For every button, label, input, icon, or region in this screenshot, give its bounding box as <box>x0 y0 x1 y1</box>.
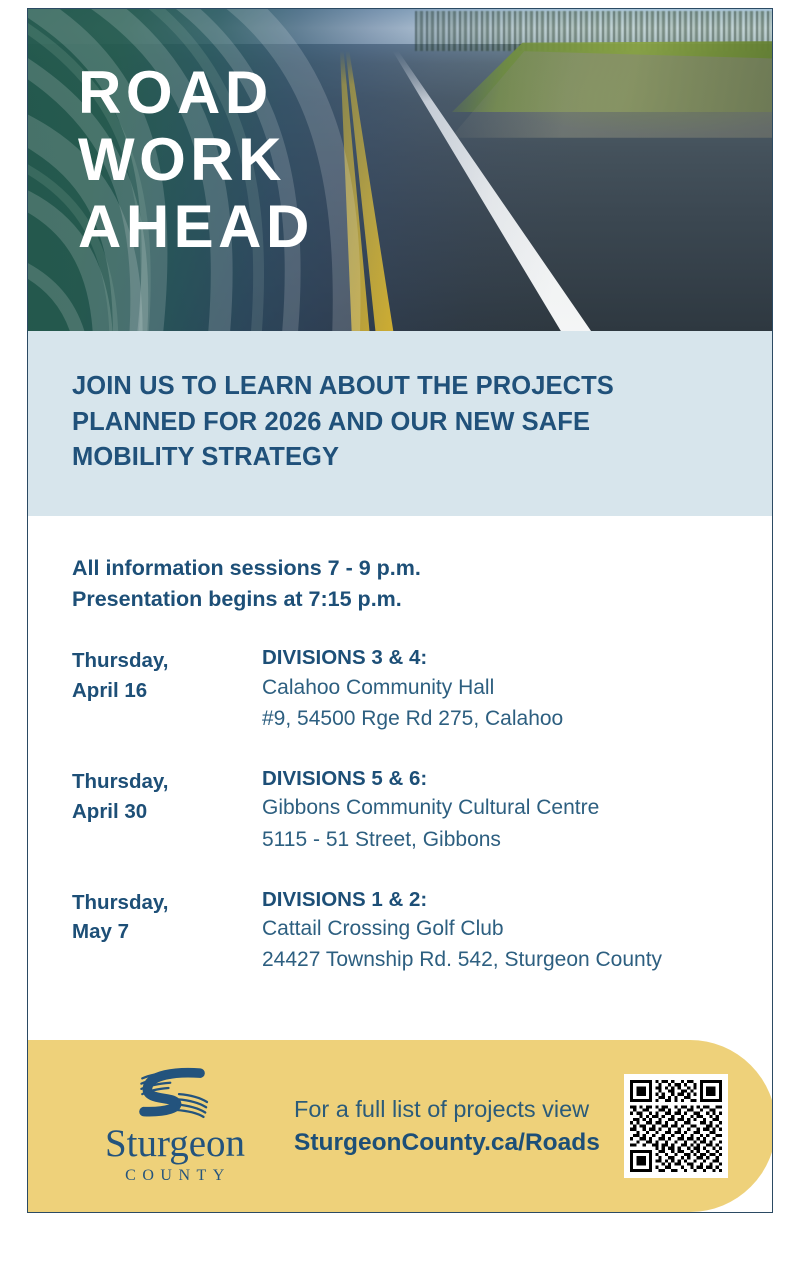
session-location: DIVISIONS 1 & 2: Cattail Crossing Golf C… <box>262 886 728 976</box>
session-date-value: April 30 <box>72 797 262 827</box>
session-address: #9, 54500 Rge Rd 275, Calahoo <box>262 703 728 734</box>
sturgeon-county-logo: Sturgeon COUNTY <box>90 1067 260 1184</box>
session-date: Thursday, April 16 <box>72 644 262 734</box>
session-date: Thursday, May 7 <box>72 886 262 976</box>
page-title: ROAD WORK AHEAD <box>78 59 314 261</box>
session-day: Thursday, <box>72 646 262 676</box>
session-address: 24427 Township Rd. 542, Sturgeon County <box>262 944 728 975</box>
session-date-value: April 16 <box>72 676 262 706</box>
qr-code[interactable] <box>624 1074 728 1178</box>
session-day: Thursday, <box>72 888 262 918</box>
session-day: Thursday, <box>72 767 262 797</box>
session-address: 5115 - 51 Street, Gibbons <box>262 824 728 855</box>
session-venue: Cattail Crossing Golf Club <box>262 913 728 944</box>
hero-title-line-1: ROAD <box>78 59 314 126</box>
session-date-value: May 7 <box>72 917 262 947</box>
sessions-intro: All information sessions 7 - 9 p.m. Pres… <box>72 553 728 615</box>
session-location: DIVISIONS 5 & 6: Gibbons Community Cultu… <box>262 765 728 855</box>
session-item: Thursday, April 30 DIVISIONS 5 & 6: Gibb… <box>72 765 728 855</box>
cta-url[interactable]: SturgeonCounty.ca/Roads <box>294 1127 624 1159</box>
qr-code-icon <box>630 1080 722 1172</box>
logo-wordmark: Sturgeon <box>90 1125 260 1163</box>
sessions-list: Thursday, April 16 DIVISIONS 3 & 4: Cala… <box>72 644 728 975</box>
intro-line-1: All information sessions 7 - 9 p.m. <box>72 553 728 584</box>
subhead-text: JOIN US TO LEARN ABOUT THE PROJECTS PLAN… <box>72 369 728 476</box>
session-divisions: DIVISIONS 1 & 2: <box>262 886 728 914</box>
session-item: Thursday, May 7 DIVISIONS 1 & 2: Cattail… <box>72 886 728 976</box>
session-item: Thursday, April 16 DIVISIONS 3 & 4: Cala… <box>72 644 728 734</box>
cta-text: For a full list of projects view Sturgeo… <box>294 1094 624 1159</box>
cta-line-1: For a full list of projects view <box>294 1094 624 1124</box>
subhead-line-2: PLANNED FOR 2026 AND OUR NEW SAFE <box>72 405 728 441</box>
subhead-band: JOIN US TO LEARN ABOUT THE PROJECTS PLAN… <box>28 331 772 516</box>
subhead-line-1: JOIN US TO LEARN ABOUT THE PROJECTS <box>72 369 728 405</box>
footer-band: Sturgeon COUNTY For a full list of proje… <box>28 1040 773 1212</box>
hero-banner: ROAD WORK AHEAD <box>28 9 772 331</box>
poster: ROAD WORK AHEAD JOIN US TO LEARN ABOUT T… <box>27 8 773 1213</box>
sessions-section: All information sessions 7 - 9 p.m. Pres… <box>28 516 772 975</box>
session-location: DIVISIONS 3 & 4: Calahoo Community Hall … <box>262 644 728 734</box>
sturgeon-river-s-icon <box>123 1067 228 1123</box>
subhead-line-3: MOBILITY STRATEGY <box>72 440 728 476</box>
session-divisions: DIVISIONS 5 & 6: <box>262 765 728 793</box>
logo-subtext: COUNTY <box>90 1167 260 1185</box>
hero-title-line-3: AHEAD <box>78 193 314 260</box>
session-date: Thursday, April 30 <box>72 765 262 855</box>
intro-line-2: Presentation begins at 7:15 p.m. <box>72 584 728 615</box>
session-divisions: DIVISIONS 3 & 4: <box>262 644 728 672</box>
session-venue: Gibbons Community Cultural Centre <box>262 792 728 823</box>
session-venue: Calahoo Community Hall <box>262 672 728 703</box>
hero-title-line-2: WORK <box>78 126 314 193</box>
